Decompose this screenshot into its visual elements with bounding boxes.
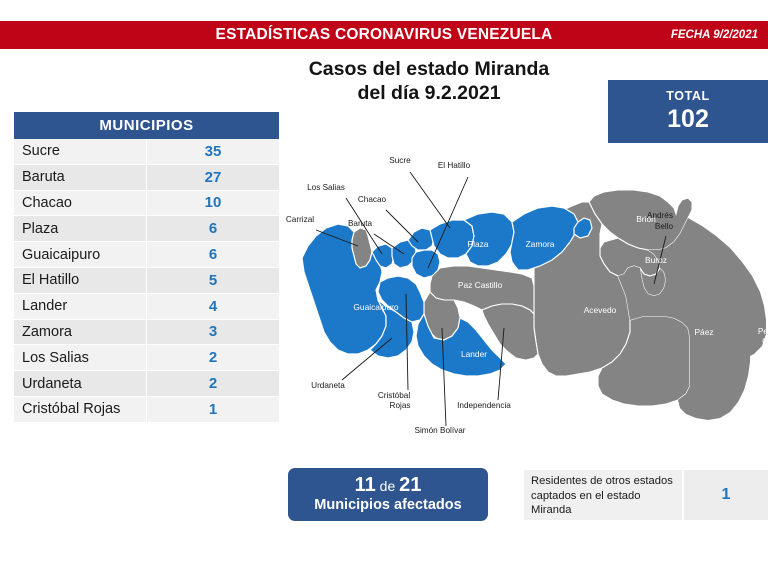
- table-cell-municipio: Baruta: [14, 164, 147, 190]
- table-cell-count: 3: [147, 319, 280, 345]
- map-label-lander: Lander: [461, 349, 487, 359]
- map-callout-rojas: Rojas: [390, 401, 411, 410]
- table-cell-municipio: Sucre: [14, 139, 147, 164]
- miranda-map: PlazaZamoraPaz CastilloGuaicaipuroLander…: [282, 150, 768, 450]
- map-callout-el-hatillo: El Hatillo: [438, 161, 471, 170]
- residents-box: Residentes de otros estados captados en …: [524, 470, 768, 520]
- table-row: Lander4: [14, 293, 279, 319]
- total-box: TOTAL 102: [608, 80, 768, 143]
- table-row: Guaicaipuro6: [14, 242, 279, 268]
- table-row: Zamora3: [14, 319, 279, 345]
- table-cell-municipio: Chacao: [14, 190, 147, 216]
- map-callout-independencia: Independencia: [457, 401, 511, 410]
- table-row: Sucre35: [14, 139, 279, 164]
- table-row: El Hatillo5: [14, 267, 279, 293]
- pill-count: 11: [355, 474, 376, 496]
- table-row: Los Salias2: [14, 345, 279, 371]
- header-bar: ESTADÍSTICAS CORONAVIRUS VENEZUELA FECHA…: [0, 21, 768, 49]
- table-row: Urdaneta2: [14, 371, 279, 397]
- residents-value: 1: [682, 470, 768, 520]
- map-callout-urdaneta: Urdaneta: [311, 381, 345, 390]
- map-callout-chacao: Chacao: [358, 195, 387, 204]
- slide-root: ESTADÍSTICAS CORONAVIRUS VENEZUELA FECHA…: [0, 0, 768, 579]
- municipios-table: MUNICIPIOS Sucre35Baruta27Chacao10Plaza6…: [14, 112, 279, 423]
- page-title: Casos del estado Miranda del día 9.2.202…: [264, 57, 594, 105]
- table-cell-count: 27: [147, 164, 280, 190]
- table-cell-municipio: Zamora: [14, 319, 147, 345]
- table-cell-count: 35: [147, 139, 280, 164]
- table-cell-count: 1: [147, 396, 280, 422]
- map-callout-crist-bal: Cristóbal: [378, 391, 410, 400]
- pill-caption: Municipios afectados: [314, 496, 461, 514]
- map-label-zamora: Zamora: [526, 239, 555, 249]
- table-row: Baruta27: [14, 164, 279, 190]
- leader-sucre: [410, 172, 450, 228]
- page-title-line1: Casos del estado Miranda: [264, 57, 594, 81]
- table-cell-municipio: Lander: [14, 293, 147, 319]
- header-date: FECHA 9/2/2021: [671, 29, 758, 41]
- map-callout-baruta: Baruta: [348, 219, 373, 228]
- table-cell-municipio: Guaicaipuro: [14, 242, 147, 268]
- table-cell-count: 4: [147, 293, 280, 319]
- map-label-paz-castillo: Paz Castillo: [458, 280, 503, 290]
- table-row: Plaza6: [14, 216, 279, 242]
- table-header-municipios: MUNICIPIOS: [14, 112, 279, 139]
- pill-counts: 11 de 21: [355, 476, 422, 496]
- table-body: Sucre35Baruta27Chacao10Plaza6Guaicaipuro…: [14, 139, 279, 422]
- table-cell-municipio: El Hatillo: [14, 267, 147, 293]
- region-guaicaipuro: [302, 224, 386, 354]
- map-label-acevedo: Acevedo: [584, 305, 617, 315]
- table-cell-municipio: Plaza: [14, 216, 147, 242]
- header-title: ESTADÍSTICAS CORONAVIRUS VENEZUELA: [0, 26, 768, 44]
- table-row: Chacao10: [14, 190, 279, 216]
- table-cell-municipio: Los Salias: [14, 345, 147, 371]
- pill-total: 21: [399, 474, 421, 496]
- map-callout-sucre: Sucre: [389, 156, 411, 165]
- map-label-pedro: Pedro: [758, 326, 768, 336]
- table-cell-municipio: Cristóbal Rojas: [14, 396, 147, 422]
- map-label-guaicaipuro: Guaicaipuro: [353, 302, 399, 312]
- table-cell-municipio: Urdaneta: [14, 371, 147, 397]
- leader-chacao: [386, 210, 418, 242]
- total-value: 102: [667, 105, 709, 134]
- table-cell-count: 6: [147, 216, 280, 242]
- table-header-row: MUNICIPIOS: [14, 112, 279, 139]
- map-label-plaza: Plaza: [468, 239, 489, 249]
- municipios-afectados-pill: 11 de 21 Municipios afectados: [288, 468, 488, 521]
- residents-text: Residentes de otros estados captados en …: [524, 470, 682, 520]
- map-callout-andr-s: Andrés: [647, 211, 673, 220]
- table-cell-count: 10: [147, 190, 280, 216]
- map-callout-sim-n-bol-var: Simón Bolívar: [415, 426, 466, 435]
- map-callout-bello: Bello: [655, 222, 674, 231]
- table-cell-count: 2: [147, 371, 280, 397]
- table-cell-count: 5: [147, 267, 280, 293]
- table-cell-count: 2: [147, 345, 280, 371]
- map-svg: PlazaZamoraPaz CastilloGuaicaipuroLander…: [282, 150, 768, 450]
- pill-connector: de: [380, 478, 396, 494]
- table-cell-count: 6: [147, 242, 280, 268]
- map-label-p-ez: Páez: [694, 327, 713, 337]
- table-row: Cristóbal Rojas1: [14, 396, 279, 422]
- map-label-buroz: Buroz: [645, 255, 667, 265]
- total-label: TOTAL: [666, 89, 710, 104]
- map-callout-carrizal: Carrizal: [286, 215, 314, 224]
- page-title-line2: del día 9.2.2021: [264, 81, 594, 105]
- map-callout-los-salias: Los Salias: [307, 183, 345, 192]
- map-label-gual: Gual: [762, 336, 768, 346]
